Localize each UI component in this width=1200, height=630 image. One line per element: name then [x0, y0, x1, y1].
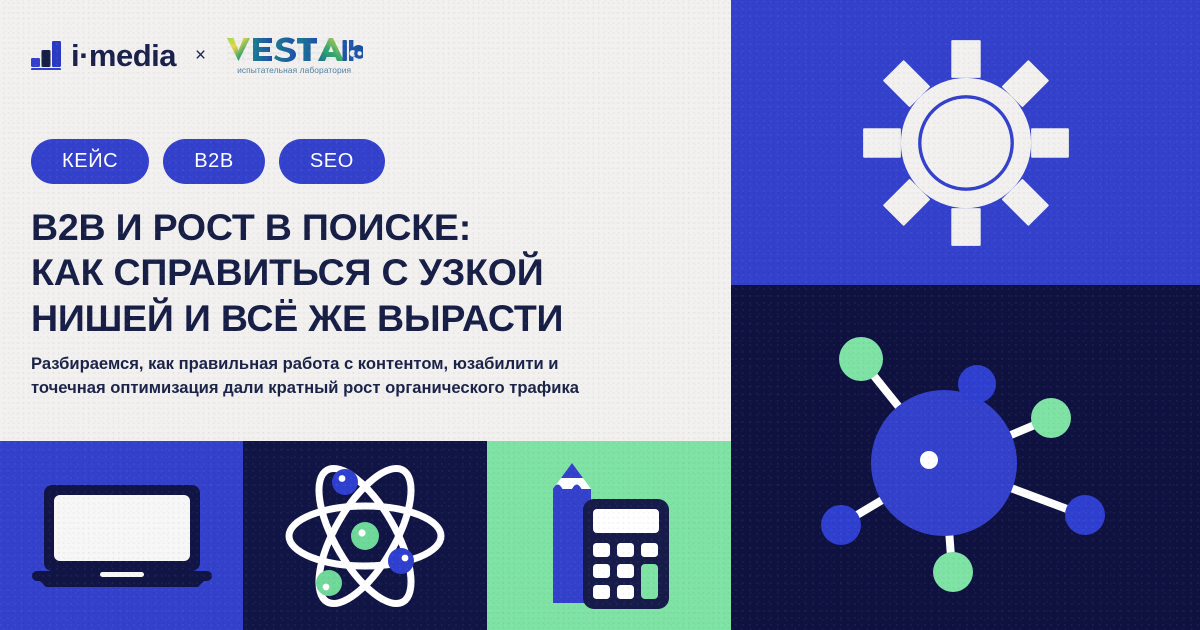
- vesta-lab-logo[interactable]: испытательная лаборатория: [225, 36, 363, 75]
- brand-bar: i·media ×: [31, 36, 363, 75]
- network-illustration-panel: [731, 285, 1200, 630]
- tag-case[interactable]: КЕЙС: [31, 139, 149, 184]
- page-subtitle-line-2: точечная оптимизация дали кратный рост о…: [31, 376, 696, 400]
- page-subtitle-line-1: Разбираемся, как правильная работа с кон…: [31, 352, 696, 376]
- page-title: B2B И РОСТ В ПОИСКЕ: КАК СПРАВИТЬСЯ С УЗ…: [31, 205, 691, 341]
- left-content-pane: i·media ×: [0, 0, 731, 441]
- laptop-illustration-panel: [0, 441, 243, 630]
- page-title-line-2: КАК СПРАВИТЬСЯ С УЗКОЙ: [31, 250, 691, 295]
- imedia-logo[interactable]: i·media: [31, 40, 176, 71]
- tag-seo[interactable]: SEO: [279, 139, 385, 184]
- vesta-lab-tagline: испытательная лаборатория: [237, 65, 351, 75]
- atom-illustration-panel: [243, 441, 487, 630]
- poster-canvas: i·media ×: [0, 0, 1200, 630]
- calculator-shape: [583, 499, 669, 609]
- vesta-wordmark-icon: [225, 36, 363, 63]
- page-title-line-1: B2B И РОСТ В ПОИСКЕ:: [31, 205, 691, 250]
- bar-chart-logo-icon: [31, 41, 62, 70]
- calculator-illustration-panel: [487, 441, 731, 630]
- imedia-wordmark: i·media: [71, 40, 176, 71]
- tag-list: КЕЙС B2B SEO: [31, 139, 385, 184]
- tag-b2b[interactable]: B2B: [163, 139, 265, 184]
- gear-illustration-panel: [731, 0, 1200, 285]
- page-subtitle: Разбираемся, как правильная работа с кон…: [31, 352, 696, 400]
- page-title-line-3: НИШЕЙ И ВСЁ ЖЕ ВЫРАСТИ: [31, 296, 691, 341]
- collab-separator: ×: [192, 45, 209, 67]
